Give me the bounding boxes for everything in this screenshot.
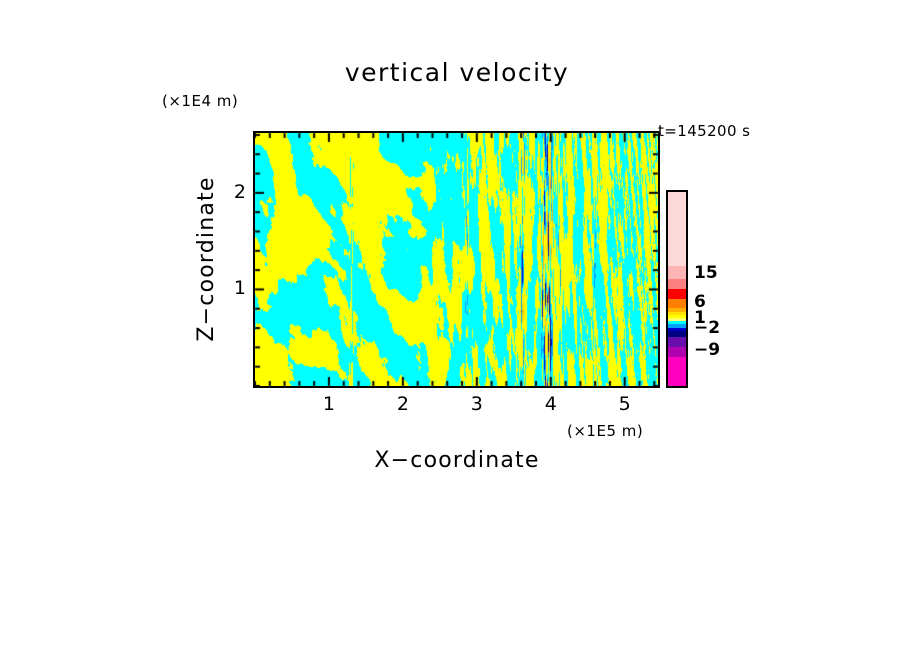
y-axis-title: Z−coordinate — [192, 130, 222, 388]
colorbar-tick-label: 15 — [694, 263, 718, 283]
colorbar-tick-label: −9 — [694, 340, 720, 360]
colorbar-band — [668, 299, 686, 309]
colorbar — [666, 190, 688, 388]
colorbar-tick-label: −2 — [694, 318, 720, 338]
y-tick-label: 2 — [228, 181, 246, 203]
contour-plot-area — [253, 131, 660, 388]
velocity-field-heatmap — [255, 133, 658, 386]
colorbar-band — [668, 357, 686, 386]
x-tick-label: 5 — [613, 393, 637, 415]
colorbar-band — [668, 279, 686, 289]
x-tick-label: 2 — [391, 393, 415, 415]
y-axis-unit-label: (×1E4 m) — [162, 92, 238, 110]
x-tick-label: 4 — [539, 393, 563, 415]
x-tick-label: 3 — [465, 393, 489, 415]
colorbar-band — [668, 289, 686, 299]
x-axis-title: X−coordinate — [253, 448, 661, 473]
colorbar-band — [668, 266, 686, 279]
colorbar-band — [668, 337, 686, 347]
colorbar-band — [668, 347, 686, 357]
y-axis-title-text: Z−coordinate — [192, 130, 222, 388]
x-axis-unit-label: (×1E5 m) — [567, 422, 643, 440]
y-tick-label: 1 — [228, 277, 246, 299]
time-annotation: t=145200 s — [658, 122, 750, 140]
page-title: vertical velocity — [253, 58, 661, 87]
colorbar-band — [668, 192, 686, 266]
figure-canvas: vertical velocity (×1E4 m) (×1E5 m) X−co… — [0, 0, 904, 654]
x-tick-label: 1 — [317, 393, 341, 415]
